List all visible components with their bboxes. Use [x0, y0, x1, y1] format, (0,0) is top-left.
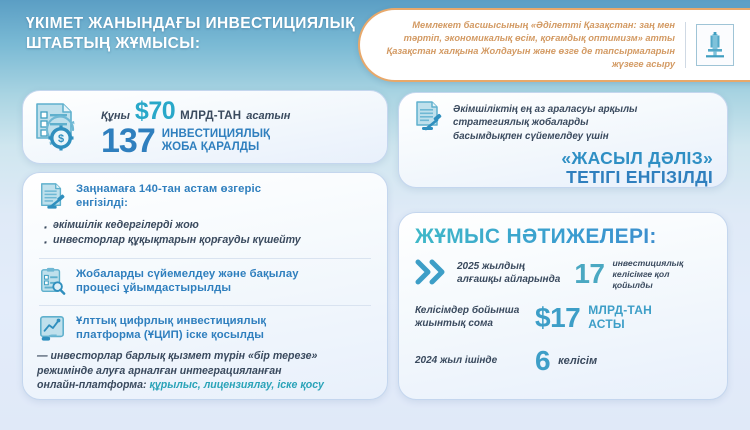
corridor-description-line1: Әкімшіліктің ең аз араласуы арқылы: [453, 104, 637, 115]
results-row-total-sum: Келісімдер бойынша жиынтық сома $17 МЛРД…: [415, 304, 711, 331]
platform-heading: Ұлттық цифрлық инвестициялық платформа (…: [76, 315, 266, 343]
projects-amount-value: $70: [135, 99, 175, 124]
results-2024-label: 2024 жыл ішінде: [415, 355, 527, 368]
corridor-headline-line2: ТЕТІГІ ЕНГІЗІЛДІ: [413, 168, 713, 187]
quote-divider: [685, 22, 686, 68]
results-2025-detail: инвестициялық келісімге қол қойылды: [612, 258, 683, 290]
document-gavel-icon: [413, 101, 443, 131]
results-2024-count: 6: [535, 348, 550, 375]
block-legislation: Заңнамаға 140-тан астам өзгеріс енгізілд…: [37, 183, 373, 249]
legislation-heading-line1: Заңнамаға 140-тан астам өзгеріс: [76, 183, 261, 195]
results-total-unit-line1: МЛРД-ТАН: [588, 303, 652, 317]
corridor-description-line3: басымдықпен сүйемелдеу үшін: [453, 131, 609, 142]
svg-text:$: $: [58, 133, 64, 145]
clipboard-check-magnifier-icon: [37, 266, 67, 296]
projects-count-row: 137 ИНВЕСТИЦИЯЛЫҚ ЖОБА ҚАРАЛДЫ: [101, 125, 375, 157]
page-title: ҮКІМЕТ ЖАНЫНДАҒЫ ИНВЕСТИЦИЯЛЫҚ ШТАБТЫҢ Ж…: [26, 14, 356, 54]
corridor-description-line2: стратегиялық жобаларды: [453, 117, 589, 128]
projects-count-value: 137: [101, 125, 155, 157]
results-total-label-line1: Келісімдер бойынша: [415, 305, 519, 316]
quote-text: Мемлекет басшысының «Әділетті Қазақстан:…: [386, 19, 685, 72]
list-item: инвесторлар құқықтарын қорғауды күшейту: [41, 233, 373, 248]
presidential-quote-box: Мемлекет басшысының «Әділетті Қазақстан:…: [358, 8, 750, 82]
results-total-label-line2: жиынтық сома: [415, 318, 493, 329]
results-total-unit-line2: АСТЫ: [588, 317, 625, 331]
monument-icon: [696, 24, 734, 66]
platform-body-line3-prefix: онлайн-платформа:: [37, 379, 150, 391]
card-reforms: Заңнамаға 140-тан астам өзгеріс енгізілд…: [22, 172, 388, 400]
projects-amount-unit: МЛРД-ТАН: [180, 110, 241, 122]
legislation-heading: Заңнамаға 140-тан астам өзгеріс енгізілд…: [76, 183, 261, 211]
infographic-canvas: ҮКІМЕТ ЖАНЫНДАҒЫ ИНВЕСТИЦИЯЛЫҚ ШТАБТЫҢ Ж…: [0, 0, 750, 430]
monitoring-heading-line1: Жобаларды сүйемелдеу және бақылау: [76, 268, 299, 280]
platform-heading-line1: Ұлттық цифрлық инвестициялық: [76, 315, 266, 327]
monitoring-heading-line2: процесі ұйымдастырылды: [76, 282, 231, 294]
results-2025-period-line2: алғашқы айларында: [457, 274, 560, 285]
results-row-2024: 2024 жыл ішінде 6 келісім: [415, 348, 711, 375]
double-chevron-right-icon: [415, 259, 449, 290]
legislation-bullet-list: әкімшілік кедергілерді жою инвесторлар қ…: [41, 218, 373, 249]
monitoring-heading: Жобаларды сүйемелдеу және бақылау процес…: [76, 268, 299, 296]
card-work-results: ЖҰМЫС НӘТИЖЕЛЕРІ: 2025 жылдың алғашқы ай…: [398, 212, 728, 400]
projects-count-label-line2: ЖОБА ҚАРАЛДЫ: [162, 141, 260, 153]
projects-count-label: ИНВЕСТИЦИЯЛЫҚ ЖОБА ҚАРАЛДЫ: [162, 128, 270, 154]
results-2025-detail-line1: инвестициялық: [612, 258, 683, 268]
block-monitoring: Жобаларды сүйемелдеу және бақылау процес…: [37, 268, 373, 296]
list-item: әкімшілік кедергілерді жою: [41, 218, 373, 233]
projects-amount-row: Құны $70 МЛРД-ТАН асатын: [101, 99, 375, 124]
results-total-unit: МЛРД-ТАН АСТЫ: [588, 304, 652, 331]
card-investment-projects: $ Құны $70 МЛРД-ТАН асатын 137 ИНВЕСТИЦИ…: [22, 90, 388, 164]
results-total-value: $17: [535, 305, 580, 332]
results-2024-suffix: келісім: [558, 355, 597, 367]
corridor-headline: «ЖАСЫЛ ДӘЛІЗ» ТЕТІГІ ЕНГІЗІЛДІ: [413, 149, 713, 188]
platform-body-highlight: құрылыс, лицензиялау, іске қосу: [150, 379, 324, 391]
block-platform: Ұлттық цифрлық инвестициялық платформа (…: [37, 315, 373, 393]
results-2025-period-line1: 2025 жылдың: [457, 261, 525, 272]
screen-chart-hand-icon: [37, 313, 67, 343]
divider: [39, 258, 371, 259]
results-2025-detail-line3: қойылды: [612, 280, 652, 290]
divider: [39, 305, 371, 306]
checklist-dollar-gear-icon: $: [33, 102, 89, 161]
projects-count-label-line1: ИНВЕСТИЦИЯЛЫҚ: [162, 128, 270, 140]
corridor-headline-line1: «ЖАСЫЛ ДӘЛІЗ»: [413, 149, 713, 168]
projects-amount-prefix: Құны: [101, 110, 130, 122]
results-title: ЖҰМЫС НӘТИЖЕЛЕРІ:: [415, 225, 711, 249]
card-green-corridor: Әкімшіліктің ең аз араласуы арқылы страт…: [398, 92, 728, 188]
results-row-agreements-2025: 2025 жылдың алғашқы айларында 17 инвести…: [415, 258, 711, 290]
platform-heading-line2: платформа (ҰЦИП) іске қосылды: [76, 329, 264, 341]
results-2025-period: 2025 жылдың алғашқы айларында: [457, 261, 560, 287]
results-2025-detail-line2: келісімге қол: [612, 269, 669, 279]
results-total-label: Келісімдер бойынша жиынтық сома: [415, 305, 527, 331]
corridor-description: Әкімшіліктің ең аз араласуы арқылы страт…: [453, 103, 637, 143]
platform-body: — инвесторлар барлық қызмет түрін «бір т…: [37, 349, 373, 393]
platform-body-line2: режимінде алуға арналған интеграцияланға…: [37, 365, 282, 377]
projects-amount-suffix: асатын: [246, 110, 290, 122]
platform-body-line1: — инвесторлар барлық қызмет түрін «бір т…: [37, 350, 317, 362]
results-2025-count: 17: [574, 261, 604, 288]
document-gavel-icon: [37, 181, 67, 211]
legislation-heading-line2: енгізілді:: [76, 197, 128, 209]
